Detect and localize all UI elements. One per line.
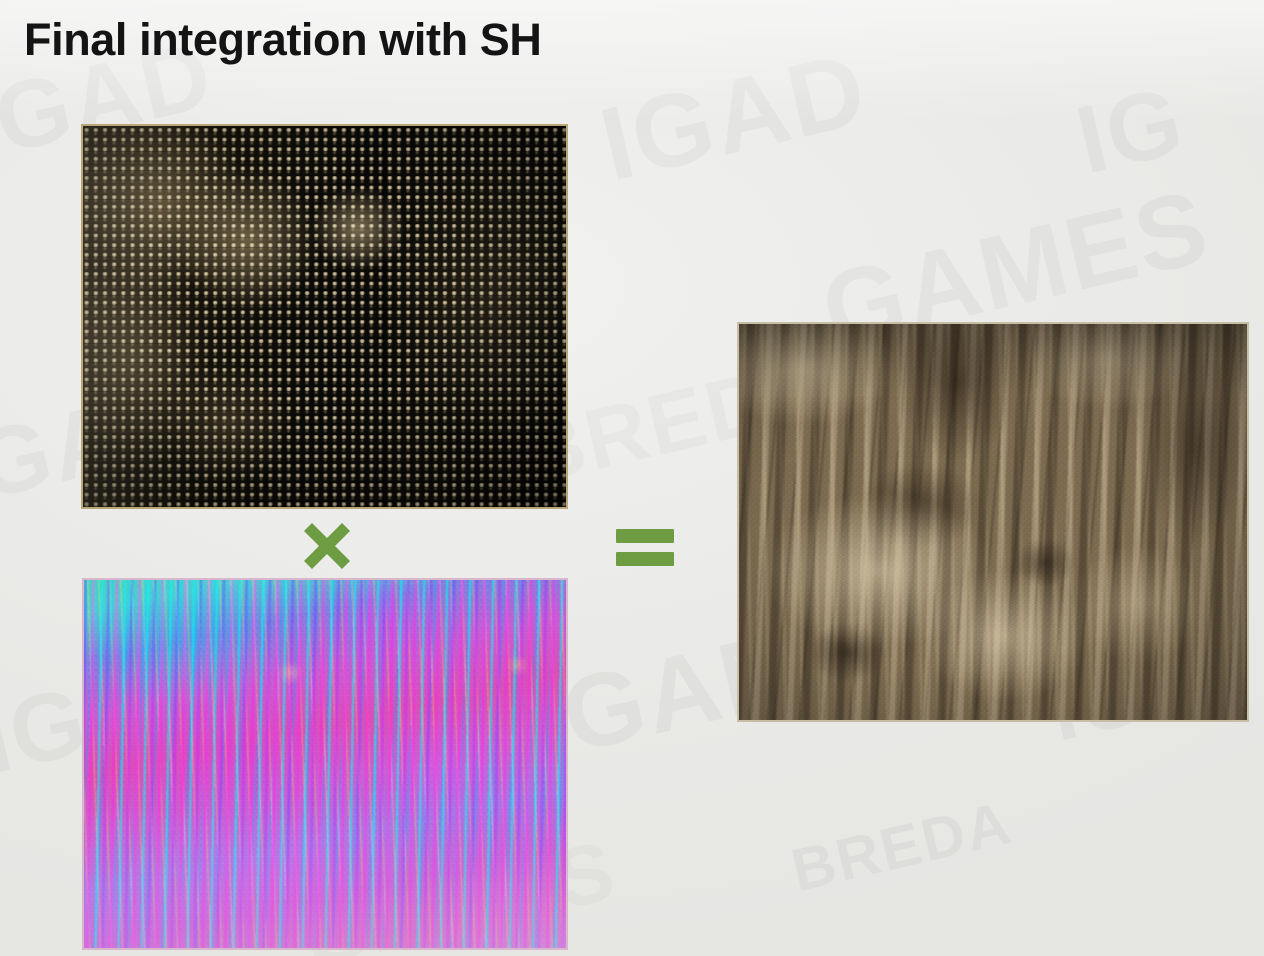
watermark-text: IGAD bbox=[590, 29, 878, 205]
watermark-text: IG bbox=[1067, 66, 1194, 197]
normal-map-image bbox=[82, 578, 568, 950]
watermark-text: BREDA bbox=[785, 788, 1018, 905]
cave-vignette bbox=[739, 324, 1247, 720]
final-render-image bbox=[737, 322, 1249, 722]
slide-title: Final integration with SH bbox=[24, 14, 542, 66]
presentation-slide: IGAD IGAD IG GAMES GAMES IGAD BREDA GAME… bbox=[0, 0, 1264, 956]
normal-map-bottom-fade bbox=[84, 580, 566, 948]
equals-bar-top bbox=[616, 529, 674, 543]
multiply-icon bbox=[300, 519, 354, 573]
sh-grid-vignette bbox=[83, 126, 566, 507]
sh-coefficient-grid-image bbox=[81, 124, 568, 509]
equals-icon bbox=[616, 524, 674, 570]
equals-bar-bottom bbox=[616, 552, 674, 566]
